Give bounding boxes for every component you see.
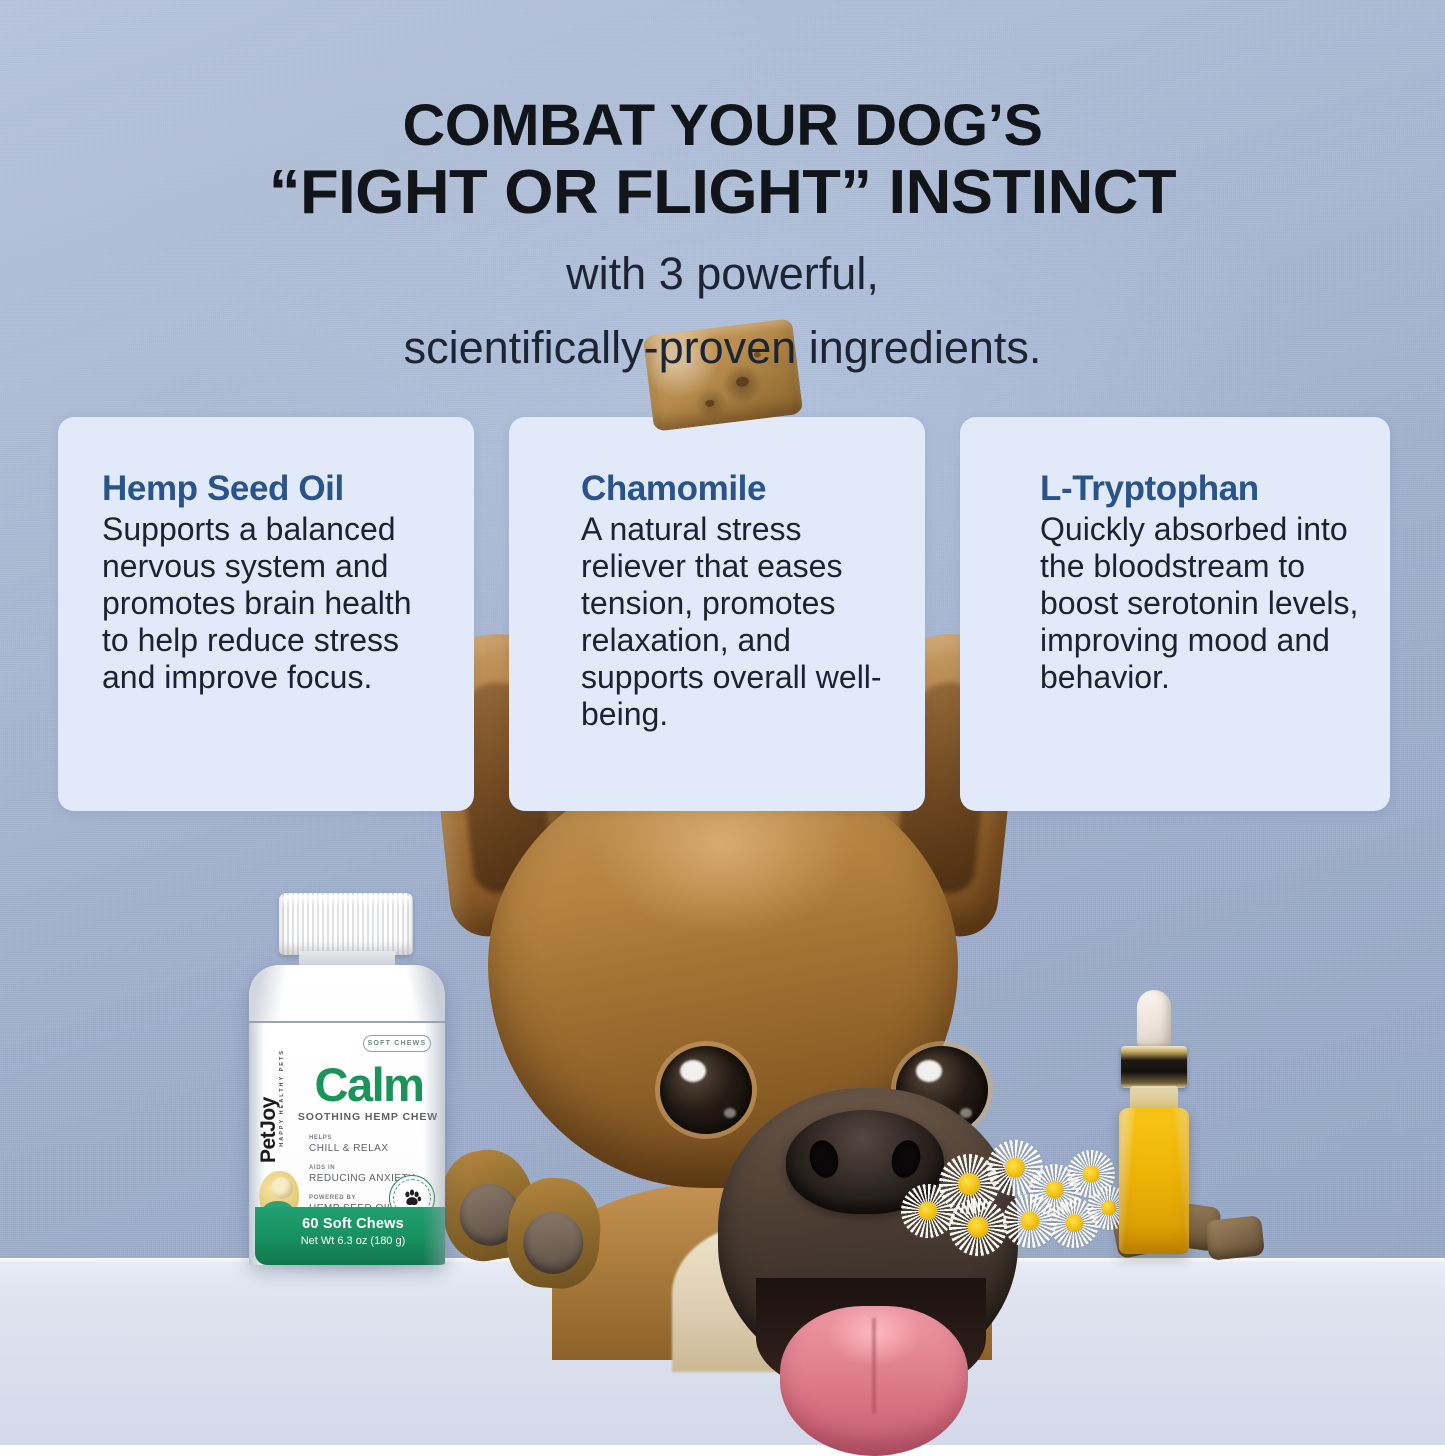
headline-line-1: COMBAT YOUR DOG’S xyxy=(0,96,1445,156)
subheadline-line-2: scientifically-proven ingredients. xyxy=(0,322,1445,374)
bottle-bottom-band: 60 Soft Chews Net Wt 6.3 oz (180 g) xyxy=(255,1207,445,1265)
dropper-collar xyxy=(1121,1046,1187,1088)
dropper-body xyxy=(1119,1108,1189,1254)
benefit-value-1: CHILL & RELAX xyxy=(309,1143,389,1154)
product-infographic: COMBAT YOUR DOG’S “FIGHT OR FLIGHT” INST… xyxy=(0,0,1445,1445)
chew-count: 60 Soft Chews xyxy=(255,1216,445,1232)
ingredient-card-hemp-seed-oil[interactable]: Hemp Seed Oil Supports a balanced nervou… xyxy=(58,417,474,811)
dog-tongue xyxy=(780,1306,968,1456)
hemp-oil-dropper-bottle-icon xyxy=(1105,990,1201,1260)
product-bottle[interactable]: PetJoy HAPPY HEALTHY PETS SOFT CHEWS Cal… xyxy=(243,893,451,1265)
headline-line-2: “FIGHT OR FLIGHT” INSTINCT xyxy=(0,160,1445,226)
benefit-label-1: HELPS xyxy=(309,1135,332,1141)
brand-tagline: HAPPY HEALTHY PETS xyxy=(279,1049,285,1147)
card-title: Chamomile xyxy=(581,469,891,509)
headline-block: COMBAT YOUR DOG’S “FIGHT OR FLIGHT” INST… xyxy=(0,96,1445,374)
dog-head xyxy=(488,758,958,1188)
card-title: L-Tryptophan xyxy=(1040,469,1372,509)
card-body: Supports a balanced nervous system and p… xyxy=(102,511,440,696)
benefit-label-3: POWERED BY xyxy=(309,1195,356,1201)
bottle-cap xyxy=(279,893,413,955)
card-title: Hemp Seed Oil xyxy=(102,469,440,509)
card-body: Quickly absorbed into the bloodstream to… xyxy=(1040,511,1372,696)
bottle-label: PetJoy HAPPY HEALTHY PETS SOFT CHEWS Cal… xyxy=(249,1021,445,1265)
chamomile-flower xyxy=(1007,1198,1053,1244)
chew-piece xyxy=(1205,1215,1265,1261)
subheadline-line-1: with 3 powerful, xyxy=(0,248,1445,300)
net-weight: Net Wt 6.3 oz (180 g) xyxy=(255,1235,445,1247)
chamomile-flower xyxy=(953,1202,1003,1252)
ingredient-cards: Hemp Seed Oil Supports a balanced nervou… xyxy=(0,417,1445,817)
card-body: A natural stress reliever that eases ten… xyxy=(581,511,891,733)
dog-eye-left xyxy=(660,1046,752,1134)
ingredient-card-chamomile[interactable]: Chamomile A natural stress reliever that… xyxy=(509,417,925,811)
benefit-label-2: AIDS IN xyxy=(309,1165,335,1171)
ingredient-card-l-tryptophan[interactable]: L-Tryptophan Quickly absorbed into the b… xyxy=(960,417,1390,811)
soft-chews-badge: SOFT CHEWS xyxy=(363,1035,431,1052)
product-subtitle: SOOTHING HEMP CHEW xyxy=(295,1111,441,1123)
dropper-bulb xyxy=(1137,990,1171,1050)
product-name: Calm xyxy=(299,1061,439,1109)
